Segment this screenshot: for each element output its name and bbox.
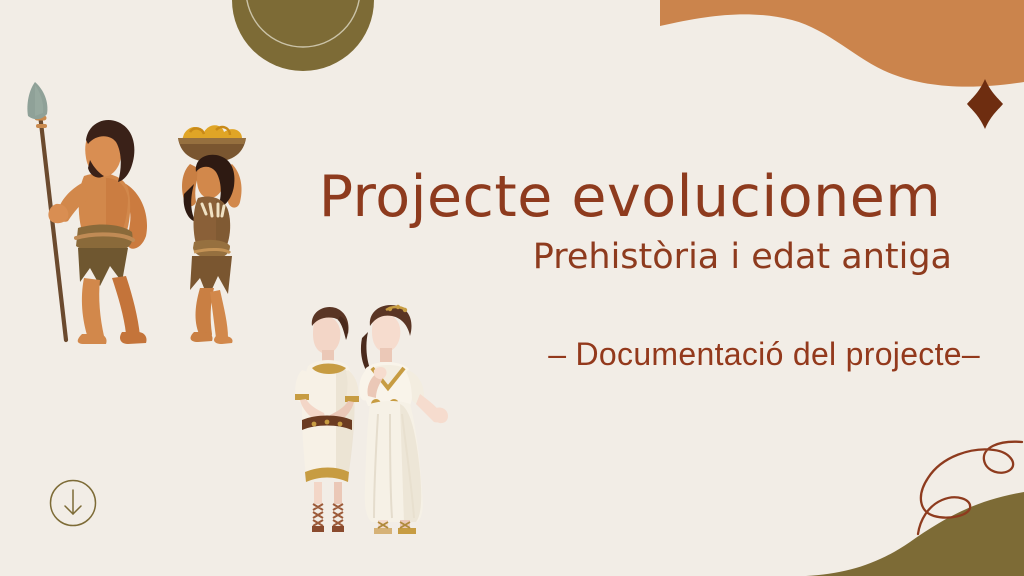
slide-canvas: Projecte evolucionem Prehistòria i edat … bbox=[0, 0, 1024, 576]
classical-woman-long-chiton-illustration bbox=[352, 292, 450, 536]
prehistoric-gatherer-with-basket-illustration bbox=[160, 112, 266, 344]
looping-line-decoration bbox=[886, 436, 1024, 542]
title-block: Projecte evolucionem Prehistòria i edat … bbox=[300, 168, 960, 276]
olive-circle-with-rings-decoration bbox=[232, 0, 374, 78]
brown-diamond-decoration bbox=[965, 79, 1005, 129]
orange-wave-blob-decoration bbox=[660, 0, 1024, 110]
olive-hill-blob-decoration bbox=[806, 468, 1024, 576]
prehistoric-hunter-with-spear-illustration bbox=[18, 82, 154, 344]
documentation-label: – Documentació del projecte– bbox=[420, 336, 980, 373]
page-subtitle: Prehistòria i edat antiga bbox=[300, 238, 960, 277]
arrow-down-circle-icon[interactable] bbox=[49, 479, 97, 527]
page-title: Projecte evolucionem bbox=[300, 168, 960, 228]
